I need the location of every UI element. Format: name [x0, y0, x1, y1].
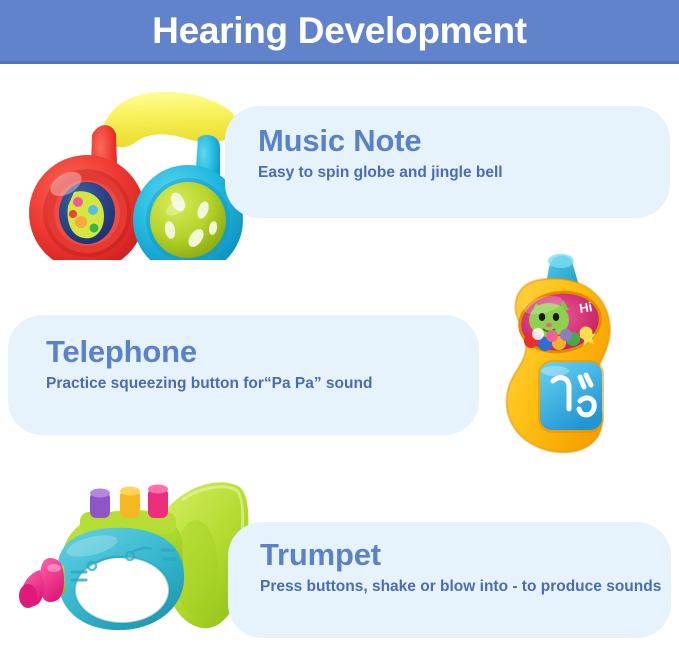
- music-note-rattle-icon: [8, 80, 243, 260]
- card-body: Music Note Easy to spin globe and jingle…: [225, 106, 670, 183]
- card-title-music-note: Music Note: [258, 125, 670, 158]
- card-description-telephone: Practice squeezing button for“Pa Pa” sou…: [46, 374, 479, 394]
- card-description-music-note: Easy to spin globe and jingle bell: [258, 163, 670, 183]
- svg-text:Hi: Hi: [578, 299, 593, 316]
- feature-card-telephone: Telephone Practice squeezing button for“…: [8, 315, 479, 435]
- card-description-trumpet: Press buttons, shake or blow into - to p…: [260, 577, 671, 597]
- page-title: Hearing Development: [152, 12, 527, 49]
- card-title-telephone: Telephone: [46, 336, 479, 369]
- card-body: Telephone Practice squeezing button for“…: [8, 315, 479, 394]
- card-body: Trumpet Press buttons, shake or blow int…: [228, 522, 671, 597]
- header-banner: Hearing Development: [0, 0, 679, 64]
- feature-card-trumpet: Trumpet Press buttons, shake or blow int…: [228, 522, 671, 638]
- toy-telephone-icon: Hi: [483, 243, 623, 458]
- feature-card-music-note: Music Note Easy to spin globe and jingle…: [225, 106, 670, 218]
- card-title-trumpet: Trumpet: [260, 539, 671, 572]
- toy-trumpet-icon: [14, 470, 252, 650]
